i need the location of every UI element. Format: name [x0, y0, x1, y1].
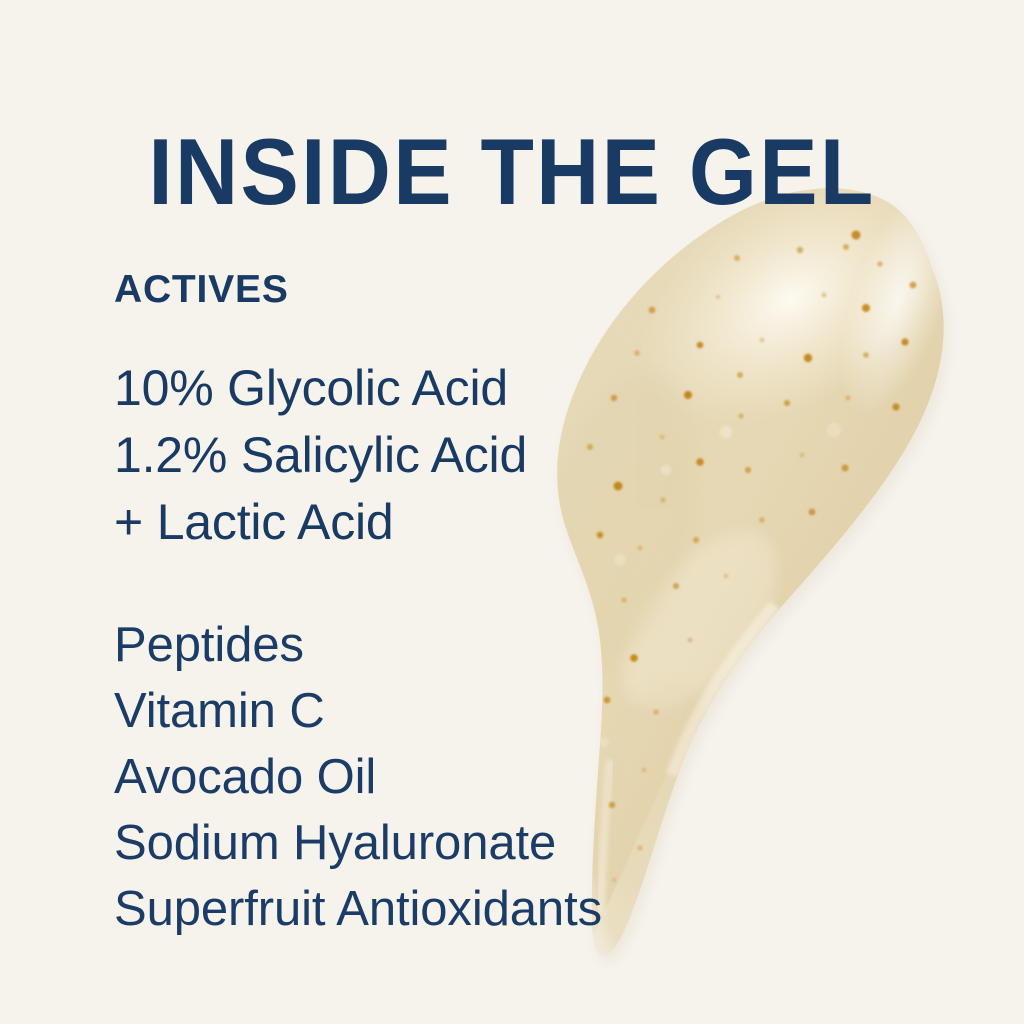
list-item: 1.2% Salicylic Acid	[114, 422, 674, 489]
list-item: Avocado Oil	[114, 744, 674, 810]
list-item: Sodium Hyaluronate	[114, 810, 674, 876]
list-item: Superfruit Antioxidants	[114, 876, 674, 942]
list-item: Peptides	[114, 612, 674, 678]
ingredients-list: Peptides Vitamin C Avocado Oil Sodium Hy…	[114, 612, 674, 942]
page-title: INSIDE THE GEL	[36, 125, 988, 219]
list-item: Vitamin C	[114, 678, 674, 744]
list-item: + Lactic Acid	[114, 489, 674, 556]
list-item: 10% Glycolic Acid	[114, 355, 674, 422]
actives-heading: ACTIVES	[114, 270, 674, 309]
ingredients-content: ACTIVES 10% Glycolic Acid 1.2% Salicylic…	[114, 270, 674, 942]
actives-list: 10% Glycolic Acid 1.2% Salicylic Acid + …	[114, 355, 674, 556]
product-ingredients-infographic: INSIDE THE GEL ACTIVES 10% Glycolic Acid…	[0, 0, 1024, 1024]
